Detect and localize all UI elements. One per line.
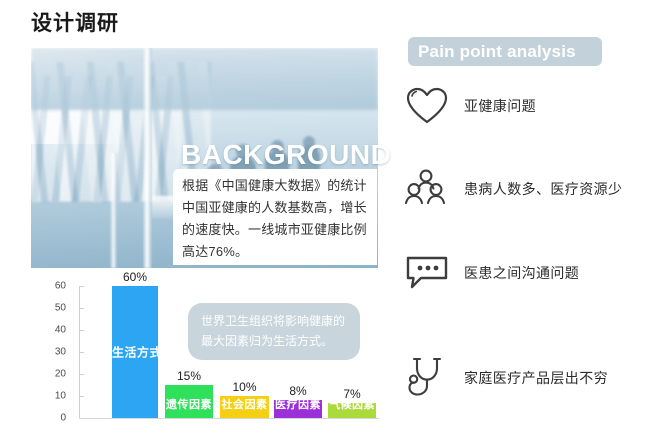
pain-point-label: 亚健康问题: [464, 96, 536, 116]
chart-bar-label: 生活方式: [112, 344, 158, 361]
pain-point-label: 家庭医疗产品层出不穷: [464, 368, 608, 388]
chart-bar: 60%生活方式: [112, 286, 158, 418]
pain-point-label: 患病人数多、医疗资源少: [464, 179, 622, 199]
chart-x-axis: [79, 418, 379, 419]
chart-callout: 世界卫生组织将影响健康的最大因素归为生活方式。: [188, 303, 360, 360]
people-group-icon: [404, 166, 450, 212]
chart-bar-label: 气候因素: [328, 396, 376, 412]
chart-y-tick: 40: [22, 325, 66, 336]
pain-point-item[interactable]: 亚健康问题: [404, 83, 656, 129]
pain-point-label: 医患之间沟通问题: [464, 263, 579, 283]
page-title: 设计调研: [31, 8, 119, 40]
chart-y-tick: 20: [22, 369, 66, 380]
background-heading: BACKGROUND: [181, 139, 391, 171]
speech-bubble-icon: [404, 250, 450, 296]
pain-point-header: Pain point analysis: [408, 37, 602, 66]
pain-point-item[interactable]: 医患之间沟通问题: [404, 250, 656, 296]
chart-bar-value: 60%: [112, 270, 158, 284]
chart-y-tick: 60: [22, 281, 66, 292]
pain-point-item[interactable]: 患病人数多、医疗资源少: [404, 166, 656, 212]
chart-bar: 10%社会因素: [220, 396, 269, 418]
heart-icon: [404, 83, 450, 129]
chart-y-tick: 30: [22, 347, 66, 358]
chart-bar: 7%气候因素: [328, 403, 376, 418]
chart-bar-label: 社会因素: [220, 396, 269, 412]
background-text-box: 根据《中国健康大数据》的统计中国亚健康的人数基数高，增长的速度快。一线城市亚健康…: [173, 169, 377, 265]
chart-y-tick: 10: [22, 391, 66, 402]
chart-y-tick: 0: [22, 413, 66, 424]
chart-callout-text: 世界卫生组织将影响健康的最大因素归为生活方式。: [201, 311, 348, 351]
pain-point-item[interactable]: 家庭医疗产品层出不穷: [404, 355, 656, 401]
chart-bar-label: 遗传因素: [165, 396, 213, 412]
stethoscope-icon: [404, 355, 450, 401]
chart-bar-value: 10%: [220, 380, 269, 394]
chart-y-tick: 50: [22, 303, 66, 314]
chart-bar-label: 医疗因素: [274, 396, 322, 412]
chart-bar: 15%遗传因素: [165, 385, 213, 418]
chart-bar-value: 15%: [165, 369, 213, 383]
background-body-text: 根据《中国健康大数据》的统计中国亚健康的人数基数高，增长的速度快。一线城市亚健康…: [182, 175, 369, 263]
chart-bar: 8%医疗因素: [274, 400, 322, 418]
